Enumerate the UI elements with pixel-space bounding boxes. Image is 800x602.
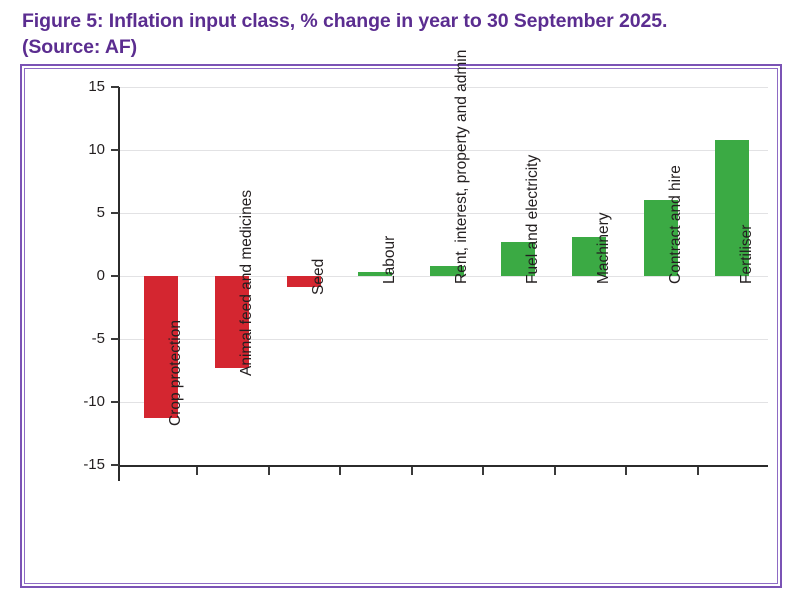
category-label: Crop protection: [168, 320, 183, 426]
x-axis-tick-mark: [554, 467, 556, 475]
category-label: Machinery: [596, 213, 611, 285]
x-axis-tick-mark: [411, 467, 413, 475]
y-axis-tick-mark: [111, 464, 119, 466]
y-axis-tick-mark: [111, 149, 119, 151]
title-line-2: (Source: AF): [22, 34, 782, 60]
x-axis-tick-mark: [196, 467, 198, 475]
y-axis-tick-label: 10: [39, 143, 105, 157]
x-axis-tick-mark: [625, 467, 627, 475]
y-axis-tick-labels: 151050-5-10-15: [25, 69, 105, 583]
y-axis-tick-label: 15: [39, 80, 105, 94]
title-line-1: Figure 5: Inflation input class, % chang…: [22, 8, 782, 34]
gridline: [120, 150, 768, 151]
chart-frame-inner: 151050-5-10-15 Crop protectionAnimal fee…: [24, 68, 778, 584]
y-axis-tick-mark: [111, 338, 119, 340]
y-axis-tick-label: -15: [39, 458, 105, 472]
gridline: [120, 87, 768, 88]
category-label: Seed: [311, 259, 326, 295]
y-axis-tick-label: -5: [39, 332, 105, 346]
gridline: [120, 402, 768, 403]
figure-page: Figure 5: Inflation input class, % chang…: [0, 0, 800, 602]
page-title: Figure 5: Inflation input class, % chang…: [22, 8, 782, 60]
category-label: Rent, interest, property and admin: [454, 50, 469, 284]
y-axis-tick-mark: [111, 212, 119, 214]
y-axis-tick-mark: [111, 86, 119, 88]
y-axis-line: [118, 87, 120, 481]
y-axis-tick-label: 0: [39, 269, 105, 283]
category-label: Contract and hire: [668, 165, 683, 284]
category-label: Labour: [382, 236, 397, 284]
y-axis-tick-mark: [111, 401, 119, 403]
y-axis-tick-mark: [111, 275, 119, 277]
y-axis-tick-label: 5: [39, 206, 105, 220]
y-axis-tick-label: -10: [39, 395, 105, 409]
chart-frame: 151050-5-10-15 Crop protectionAnimal fee…: [20, 64, 782, 588]
x-axis-tick-mark: [697, 467, 699, 475]
category-label: Fertiliser: [739, 225, 754, 284]
category-label: Animal feed and medicines: [239, 190, 254, 376]
x-axis-line: [118, 465, 768, 467]
x-axis-tick-mark: [482, 467, 484, 475]
category-label: Fuel and electricity: [525, 155, 540, 284]
x-axis-tick-mark: [268, 467, 270, 475]
x-axis-tick-mark: [339, 467, 341, 475]
